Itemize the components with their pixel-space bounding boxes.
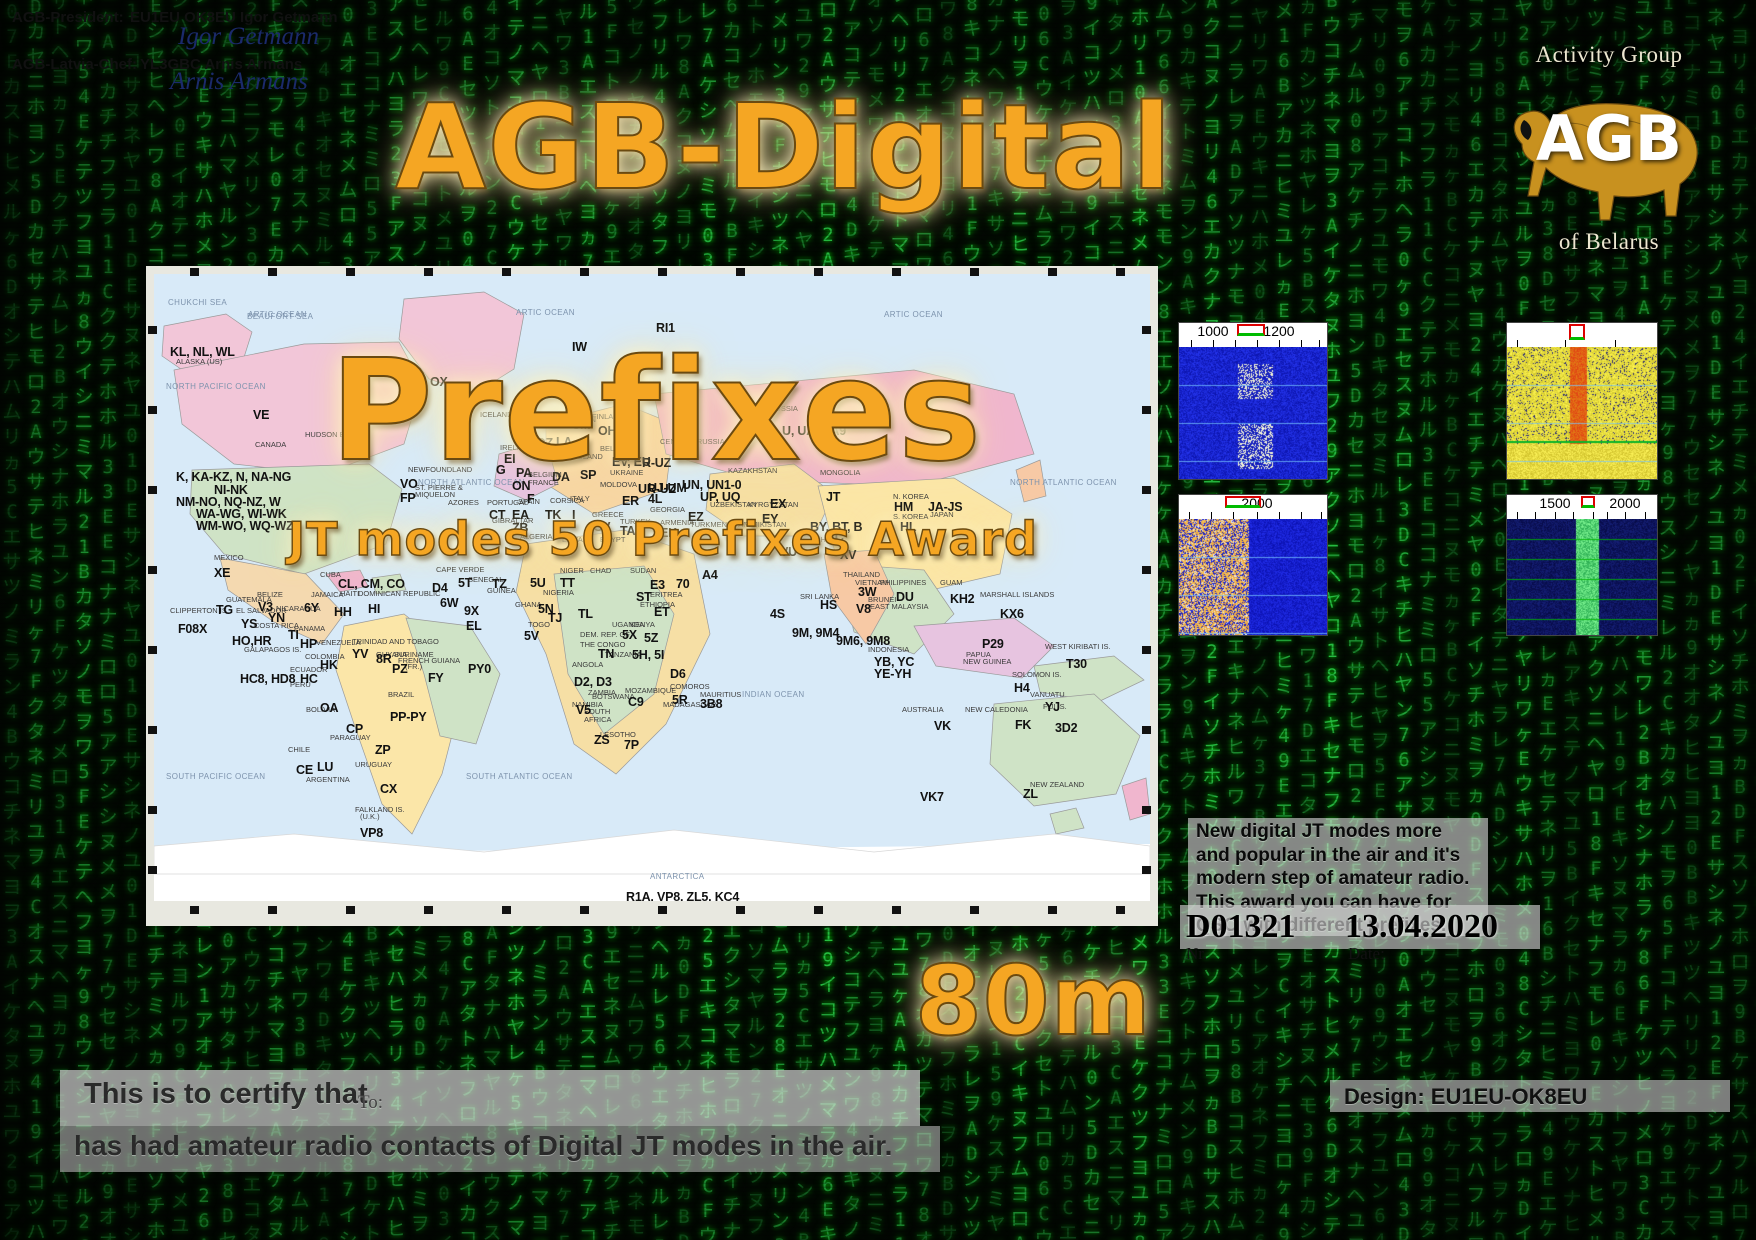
prefix-label: 3D2 (1055, 721, 1077, 735)
prefix-label: TI (288, 628, 299, 642)
registration-mark (1142, 646, 1151, 654)
country-label: ANGOLA (572, 660, 603, 669)
prefix-label: HI (368, 602, 380, 616)
ocean-label: ANTARCTICA (650, 872, 705, 881)
prefix-label: TG (216, 603, 233, 617)
prefix-label: 8R (376, 652, 392, 666)
registration-mark (148, 486, 157, 494)
ocean-label: CHUKCHI SEA (168, 298, 227, 307)
agb-logo: Activity Group AGB of Belarus (1484, 40, 1734, 255)
prefix-label: ET (654, 605, 670, 619)
prefix-label: P29 (982, 637, 1004, 651)
registration-mark (736, 268, 745, 276)
waterfall-bottom-right: 1500 2000 (1506, 494, 1658, 636)
country-label: NEW CALEDONIA (965, 705, 1028, 714)
registration-mark (892, 268, 901, 276)
registration-mark (1048, 906, 1057, 914)
registration-mark (268, 268, 277, 276)
certify-line: This is to certify that (84, 1078, 368, 1111)
waterfall-display-bottom-right (1507, 519, 1657, 635)
prefix-label: K, KA-KZ, N, NA-NG (176, 470, 291, 484)
info-line: New digital JT modes more (1196, 820, 1488, 844)
wf-label-2000: 2000 (1609, 495, 1640, 511)
prefix-label: FK (1015, 718, 1031, 732)
prefix-label: YE-YH (874, 667, 911, 681)
registration-mark (1142, 406, 1151, 414)
country-label: BELIZE (257, 590, 283, 599)
waterfall-display-bottom-left (1179, 519, 1327, 635)
registration-mark (148, 566, 157, 574)
prefix-label: V5 (576, 703, 591, 717)
country-label: CAPE VERDE (436, 565, 484, 574)
prefix-label: HO,HR (232, 634, 271, 648)
registration-mark (424, 268, 433, 276)
country-label: AZORES (448, 498, 479, 507)
ocean-label: NORTH PACIFIC OCEAN (166, 382, 266, 391)
certificate-number-label: Nr. (1186, 944, 1207, 964)
registration-mark (1048, 268, 1057, 276)
prefix-label: 3W (858, 585, 876, 599)
registration-mark (580, 906, 589, 914)
award-subtitle: JT modes 50 Prefixes Award (288, 512, 1038, 566)
registration-mark (736, 906, 745, 914)
prefix-label: 3B8 (700, 697, 722, 711)
prefix-label: 5H, 5I (632, 648, 664, 662)
ocean-label: ARTIC OCEAN (516, 308, 575, 317)
logo-top-text: Activity Group (1484, 42, 1734, 68)
ocean-label: NORTH ATLANTIC OCEAN (1010, 478, 1117, 487)
prefix-label: A4 (702, 568, 718, 582)
country-label: NIGER (560, 566, 584, 575)
wf-marker (1581, 496, 1595, 508)
prefix-label: 70 (676, 577, 690, 591)
wf-marker (1225, 496, 1261, 508)
prefix-label: F (527, 492, 534, 506)
registration-mark (814, 268, 823, 276)
prefix-label: KH2 (950, 592, 974, 606)
prefix-label: TJ (548, 611, 562, 625)
prefix-label: ZS (594, 733, 610, 747)
ocean-label: SOUTH PACIFIC OCEAN (166, 772, 265, 781)
prefix-label: ST (636, 590, 652, 604)
prefix-label: 9M6, 9M8 (836, 634, 890, 648)
award-title: AGB-Digital (395, 78, 1173, 216)
prefix-label: YS (241, 617, 257, 631)
band-label: 80m (915, 945, 1152, 1057)
registration-mark (424, 906, 433, 914)
registration-mark (658, 268, 667, 276)
registration-mark (970, 906, 979, 914)
country-label: WEST KIRIBATI IS. (1045, 642, 1111, 651)
latvia-chef-signature: Arnis Armans (170, 68, 308, 96)
prefix-label: ER (622, 494, 639, 508)
prefix-label: T30 (1066, 657, 1087, 671)
info-line: and popular in the air and it's (1196, 844, 1488, 868)
prefix-label: 5X (622, 628, 637, 642)
prefix-label: 5Z (644, 631, 658, 645)
country-label: (U.K.) (360, 812, 380, 821)
prefix-label: HC (300, 672, 318, 686)
president-signature: Igor Getmann (178, 23, 319, 51)
prefix-label: HH (334, 605, 352, 619)
registration-mark (190, 268, 199, 276)
country-label: NEW GUINEA (963, 657, 1011, 666)
prefix-label: D4 (432, 581, 448, 595)
country-label: CHILE (288, 745, 310, 754)
prefix-label: VP8 (360, 826, 383, 840)
prefix-label: V8 (856, 602, 871, 616)
registration-mark (148, 646, 157, 654)
prefix-label: LU (317, 760, 333, 774)
wf-label-1000: 1000 (1197, 323, 1228, 339)
prefix-label: VE (253, 408, 269, 422)
prefix-label: PY0 (468, 662, 491, 676)
country-label: CANADA (255, 440, 286, 449)
prefix-label: FP (400, 491, 416, 505)
prefix-label: EL (466, 619, 482, 633)
prefix-label: PP-PY (390, 710, 427, 724)
registration-mark (346, 906, 355, 914)
prefix-label: CL, CM, CO (338, 577, 405, 591)
prefix-label: CP (346, 722, 363, 736)
country-label: TOGO (528, 620, 550, 629)
wf-marker (1237, 324, 1265, 336)
prefix-label: CE (296, 763, 313, 777)
prefix-label: YV (352, 647, 368, 661)
prefix-label: WM-WO, WQ-WZ (196, 519, 294, 533)
waterfall-scale-bottom-left: 2000 (1179, 495, 1327, 519)
prefix-label: 5T (458, 576, 472, 590)
wf-marker (1569, 324, 1585, 340)
latvia-chef-role: AGB-Latvia-Chef: (12, 56, 137, 73)
prefix-label: DU (896, 590, 914, 604)
waterfall-display-top-right (1507, 347, 1657, 479)
registration-mark (148, 806, 157, 814)
prefix-label: KX6 (1000, 607, 1024, 621)
prefix-label: YJ (1045, 700, 1060, 714)
registration-mark (148, 726, 157, 734)
registration-mark (1142, 326, 1151, 334)
country-label: GUAM (940, 578, 963, 587)
registration-mark (502, 268, 511, 276)
country-label: BRAZIL (388, 690, 414, 699)
prefix-label: 6W (440, 596, 458, 610)
prefix-label: XE (214, 566, 230, 580)
prefix-label: TN (598, 647, 614, 661)
country-label: NEW ZEALAND (1030, 780, 1084, 789)
design-credit: Design: EU1EU-OK8EU (1344, 1084, 1587, 1110)
registration-mark (1142, 486, 1151, 494)
registration-mark (892, 906, 901, 914)
contacts-line: has had amateur radio contacts of Digita… (74, 1130, 892, 1162)
registration-mark (502, 906, 511, 914)
country-label: AUSTRALIA (902, 705, 944, 714)
country-label: VANUATU (1030, 690, 1065, 699)
wf-label-1200: 1200 (1263, 323, 1294, 339)
country-label: MARSHALL ISLANDS (980, 590, 1054, 599)
prefix-label: 4S (770, 607, 785, 621)
country-label: THAILAND (843, 570, 880, 579)
waterfall-top-right (1506, 322, 1658, 480)
registration-mark (814, 906, 823, 914)
registration-mark (1142, 566, 1151, 574)
prefix-label: F08X (178, 622, 207, 636)
prefix-label: 6Y (304, 601, 319, 615)
logo-center-text: AGB (1484, 102, 1734, 175)
registration-mark (1142, 726, 1151, 734)
country-label: URUGUAY (355, 760, 392, 769)
prefix-label: EX (770, 497, 786, 511)
certificate-date: 13.04.2020 (1345, 908, 1498, 946)
registration-mark (1142, 866, 1151, 874)
registration-mark (1142, 806, 1151, 814)
prefix-label: HC8, HD8 (240, 672, 295, 686)
prefix-label: R1A, VP8, ZL5, KC4 (626, 890, 739, 901)
waterfall-bottom-left: 2000 (1178, 494, 1328, 636)
prefix-label: KL, NL, WL (170, 345, 235, 359)
country-label: JAMAICA (311, 590, 344, 599)
prefix-label: HP (300, 637, 317, 651)
registration-mark (148, 326, 157, 334)
prefix-label: 5R (672, 693, 688, 707)
prefix-label: 7P (624, 738, 639, 752)
prefix-label: VK7 (920, 790, 944, 804)
registration-mark (148, 406, 157, 414)
prefix-label: CX (380, 782, 397, 796)
prefix-label: TZ (492, 577, 507, 591)
prefix-label: TT (560, 576, 575, 590)
registration-mark (1116, 906, 1125, 914)
prefix-label: OA (320, 701, 338, 715)
ocean-label: ARTIC OCEAN (884, 310, 943, 319)
ocean-label: SOUTH ATLANTIC OCEAN (466, 772, 573, 781)
prefix-label: 5V (524, 629, 539, 643)
president-role: AGB-President: (12, 9, 124, 26)
ocean-label: INDIAN OCEAN (742, 690, 805, 699)
prefix-label: 5U (530, 576, 546, 590)
waterfall-scale-top-left: 1000 1200 (1179, 323, 1327, 347)
prefix-label: PZ (392, 662, 408, 676)
logo-bottom-text: of Belarus (1484, 229, 1734, 255)
prefix-label: HS (820, 598, 837, 612)
prefix-label: HK (320, 658, 338, 672)
registration-mark (190, 906, 199, 914)
certificate-date-label: Date: (1348, 944, 1385, 964)
country-label: ITALY (570, 494, 590, 503)
registration-mark (148, 866, 157, 874)
waterfall-display-top-left (1179, 347, 1327, 479)
prefix-label: ZL (1023, 787, 1038, 801)
prefix-label: C9 (628, 695, 644, 709)
registration-mark (268, 906, 277, 914)
to-label: To: (358, 1092, 383, 1114)
country-label: TRINIDAD AND TOBAGO (352, 637, 439, 646)
registration-mark (1116, 268, 1125, 276)
prefix-label: H4 (1014, 681, 1030, 695)
country-label: SOLOMON IS. (1012, 670, 1062, 679)
prefix-label: TL (578, 607, 593, 621)
prefix-label: 9M, 9M4 (792, 626, 839, 640)
award-name: Prefixes (330, 330, 982, 493)
prefix-label: VK (934, 719, 951, 733)
prefix-label: D6 (670, 667, 686, 681)
prefix-label: 9X (464, 604, 479, 618)
registration-mark (970, 268, 979, 276)
prefix-label: E3 (650, 578, 665, 592)
prefix-label: D2, D3 (574, 675, 612, 689)
registration-mark (346, 268, 355, 276)
country-label: CHAD (590, 566, 611, 575)
registration-mark (658, 906, 667, 914)
waterfall-scale-top-right (1507, 323, 1657, 347)
waterfall-scale-bottom-right: 1500 2000 (1507, 495, 1657, 519)
award-certificate: 0 7 E カ ス ト ヒ メ ル ヶ 6 D オ シ テ ハ ム リ ヵ 5 … (0, 0, 1756, 1240)
prefix-label: FY (428, 671, 444, 685)
registration-mark (580, 268, 589, 276)
waterfall-top-left: 1000 1200 (1178, 322, 1328, 480)
prefix-label: YN (268, 611, 285, 625)
info-line: modern step of amateur radio. (1196, 867, 1488, 891)
prefix-label: ZP (375, 743, 391, 757)
certificate-number: D01321 (1186, 908, 1296, 946)
country-label: MEXICO (214, 553, 244, 562)
ocean-label: BEAUFORT SEA (247, 312, 313, 321)
country-label: SUDAN (630, 566, 656, 575)
wf-label-1500: 1500 (1539, 495, 1570, 511)
